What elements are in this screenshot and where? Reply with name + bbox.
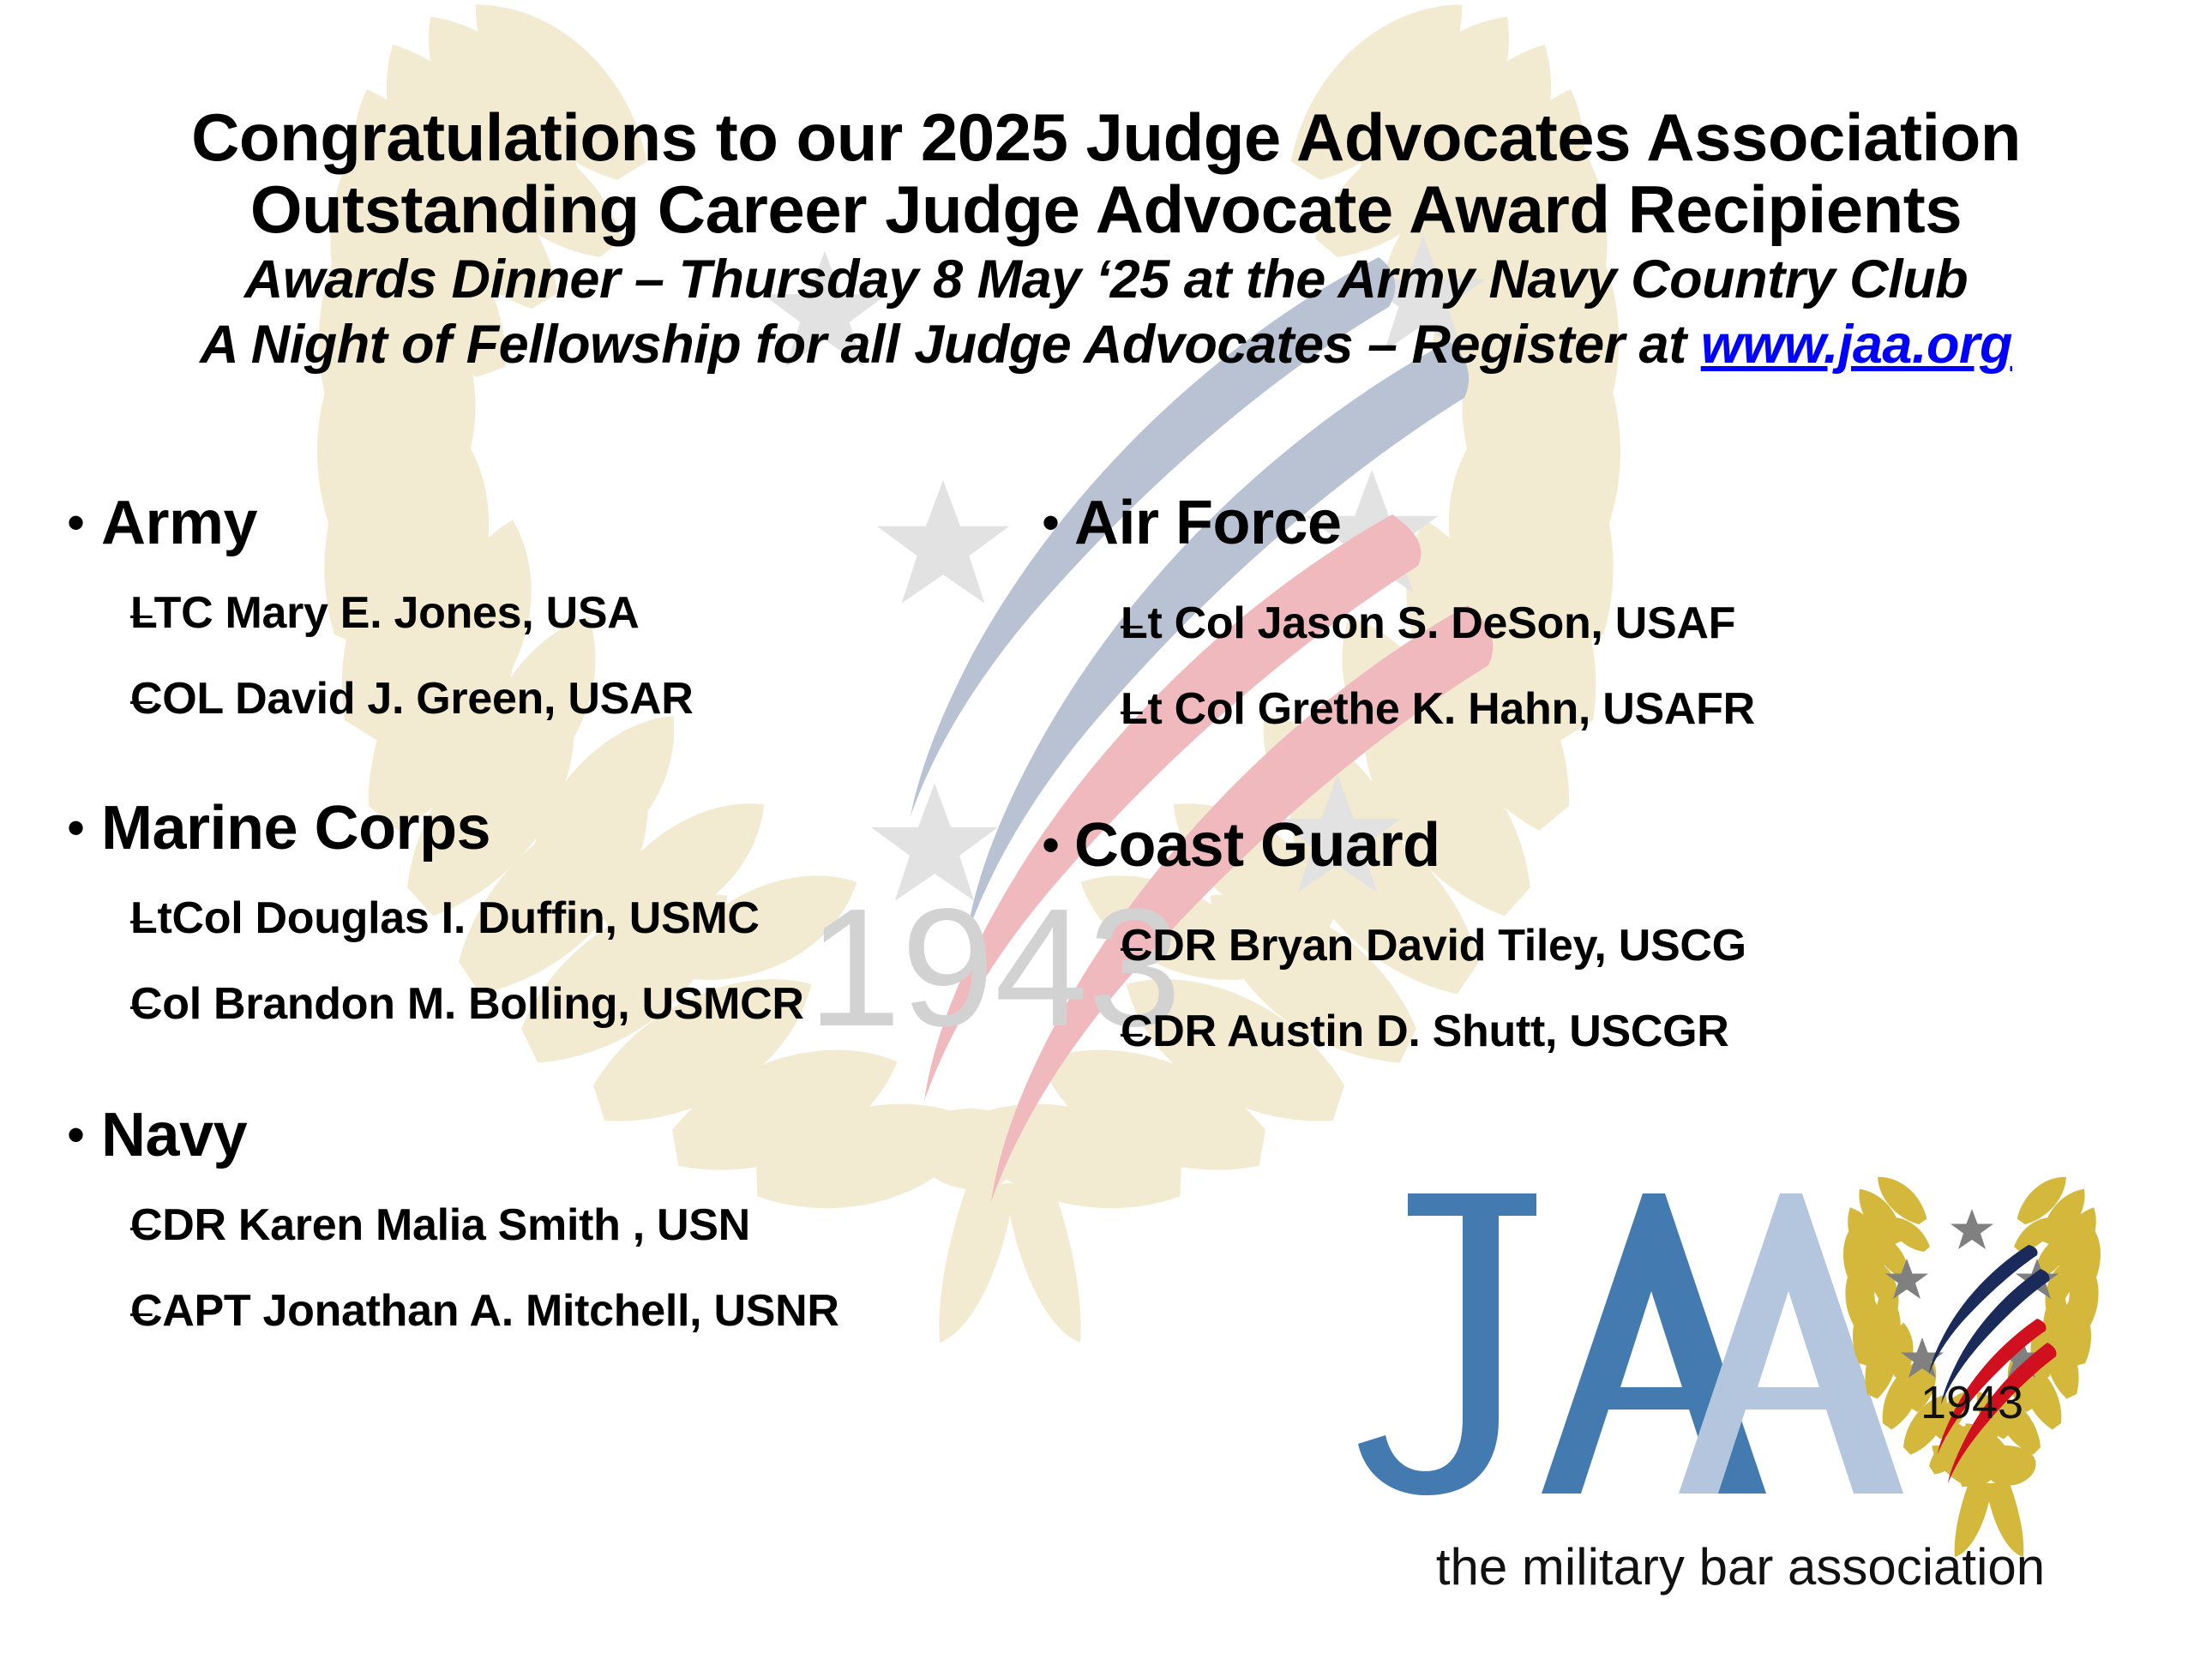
recipients-column-right: • Air Force – Lt Col Jason S. DeSon, USA… (1025, 482, 2173, 1065)
service-heading-army: • Army (51, 482, 1063, 564)
recipient-row: – COL David J. Green, USAR (51, 665, 1063, 732)
subtitle-event-line: Awards Dinner – Thursday 8 May ‘25 at th… (0, 245, 2212, 314)
service-heading-marine-corps: • Marine Corps (51, 787, 1063, 869)
dash-icon: – (1025, 998, 1121, 1065)
bullet-icon: • (51, 1094, 101, 1176)
bullet-icon: • (51, 787, 101, 869)
bullet-icon: • (1025, 804, 1074, 887)
service-heading-navy: • Navy (51, 1094, 1063, 1176)
service-block-army: • Army – LTC Mary E. Jones, USA – COL Da… (51, 482, 1063, 732)
jaa-website-link[interactable]: www.jaa.org (1701, 315, 2012, 375)
recipients-column-left: • Army – LTC Mary E. Jones, USA – COL Da… (51, 482, 1063, 1344)
recipient-row: – CDR Austin D. Shutt, USCGR (1025, 998, 2173, 1065)
title-line-2: Outstanding Career Judge Advocate Award … (0, 173, 2212, 245)
recipient-name: LTC Mary E. Jones, USA (130, 580, 639, 646)
recipient-row: – Col Brandon M. Bolling, USMCR (51, 971, 1063, 1037)
subtitle-register-line: A Night of Fellowship for all Judge Advo… (0, 310, 2212, 379)
jaa-logo: 1943 the military bar association (1312, 1163, 2169, 1608)
recipient-name: Col Brandon M. Bolling, USMCR (130, 971, 804, 1037)
slide-content: Congratulations to our 2025 Judge Advoca… (0, 0, 2212, 1659)
seal-year-text: 1943 (1920, 1377, 2023, 1428)
recipient-name: COL David J. Green, USAR (130, 665, 693, 732)
service-name-marine-corps: Marine Corps (101, 787, 490, 869)
service-name-coast-guard: Coast Guard (1074, 804, 1440, 887)
service-block-air-force: • Air Force – Lt Col Jason S. DeSon, USA… (1025, 482, 2173, 742)
dash-icon: – (1025, 912, 1121, 979)
recipient-row: – CAPT Jonathan A. Mitchell, USNR (51, 1277, 1063, 1344)
dash-icon: – (51, 1192, 130, 1259)
recipient-row: – CDR Bryan David Tiley, USCG (1025, 912, 2173, 979)
dash-icon: – (51, 1277, 130, 1344)
recipient-name: CDR Bryan David Tiley, USCG (1121, 912, 1746, 979)
service-name-army: Army (101, 482, 257, 564)
dash-icon: – (51, 971, 130, 1037)
dash-icon: – (1025, 676, 1121, 742)
logo-seal: 1943 (1842, 1165, 2103, 1557)
recipient-row: – Lt Col Jason S. DeSon, USAF (1025, 590, 2173, 657)
dash-icon: – (51, 885, 130, 952)
service-block-coast-guard: • Coast Guard – CDR Bryan David Tiley, U… (1025, 804, 2173, 1065)
slide-canvas: 1943 Congratulations to our 2025 Judge A… (0, 0, 2212, 1659)
recipient-row: – LtCol Douglas I. Duffin, USMC (51, 885, 1063, 952)
recipient-row: – Lt Col Grethe K. Hahn, USAFR (1025, 676, 2173, 742)
recipient-name: Lt Col Jason S. DeSon, USAF (1121, 590, 1735, 657)
bullet-icon: • (1025, 482, 1074, 564)
service-heading-coast-guard: • Coast Guard (1025, 804, 2173, 887)
recipient-row: – LTC Mary E. Jones, USA (51, 580, 1063, 646)
dash-icon: – (1025, 590, 1121, 657)
recipient-name: LtCol Douglas I. Duffin, USMC (130, 885, 760, 952)
slide-header: Congratulations to our 2025 Judge Advoca… (0, 101, 2212, 379)
dash-icon: – (51, 665, 130, 732)
service-block-marine-corps: • Marine Corps – LtCol Douglas I. Duffin… (51, 787, 1063, 1037)
register-text: A Night of Fellowship for all Judge Advo… (200, 315, 1701, 375)
bullet-icon: • (51, 482, 101, 564)
dash-icon: – (51, 580, 130, 646)
logo-tagline: the military bar association (1436, 1538, 2045, 1596)
recipient-name: CDR Austin D. Shutt, USCGR (1121, 998, 1729, 1065)
logo-letter-j (1358, 1193, 1536, 1495)
title-line-1: Congratulations to our 2025 Judge Advoca… (0, 101, 2212, 173)
recipient-name: CDR Karen Malia Smith , USN (130, 1192, 750, 1259)
recipient-name: CAPT Jonathan A. Mitchell, USNR (130, 1277, 839, 1344)
service-name-air-force: Air Force (1074, 482, 1342, 564)
service-block-navy: • Navy – CDR Karen Malia Smith , USN – C… (51, 1094, 1063, 1344)
service-name-navy: Navy (101, 1094, 247, 1176)
service-heading-air-force: • Air Force (1025, 482, 2173, 564)
recipient-row: – CDR Karen Malia Smith , USN (51, 1192, 1063, 1259)
recipient-name: Lt Col Grethe K. Hahn, USAFR (1121, 676, 1755, 742)
